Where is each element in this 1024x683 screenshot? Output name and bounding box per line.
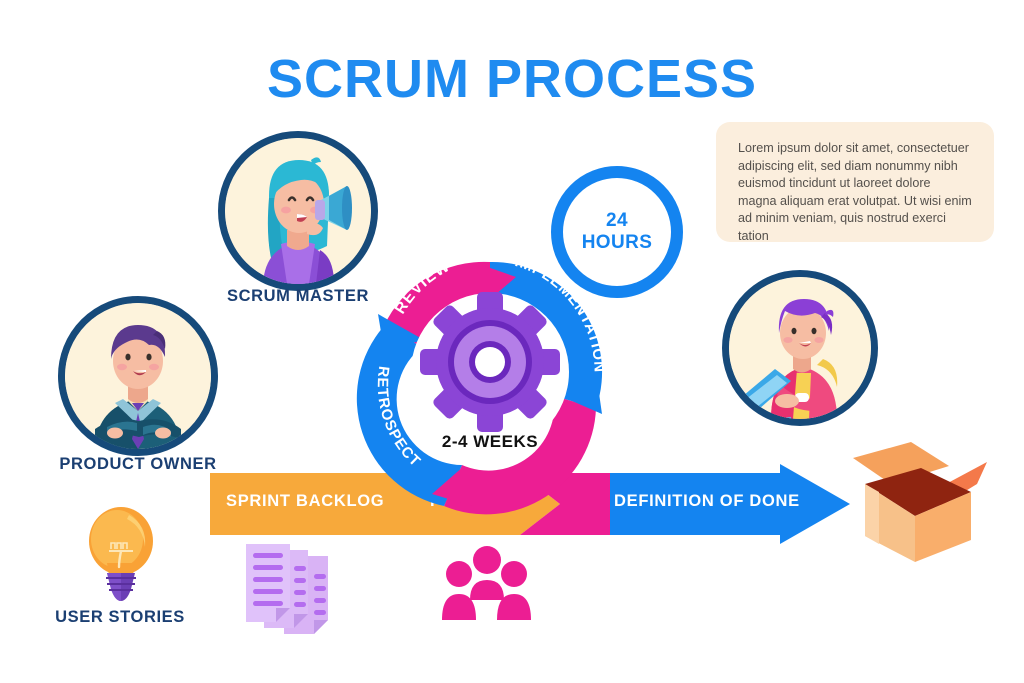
open-box-icon: [845, 436, 997, 562]
page-title: SCRUM PROCESS: [0, 48, 1024, 110]
note-text: Lorem ipsum dolor sit amet, consectetuer…: [738, 140, 972, 245]
team-people-icon: [442, 546, 532, 620]
flow-label-definition-of-done: DEFINITION OF DONE: [614, 492, 800, 511]
stacked-documents-icon: [244, 544, 348, 640]
daily-badge-line2: HOURS: [582, 232, 653, 254]
avatar-label-product-owner: PRODUCT OWNER: [10, 455, 266, 474]
infographic-canvas: SCRUM PROCESS Lorem ipsum dolor sit amet…: [0, 0, 1024, 683]
avatar-product-owner[interactable]: [58, 296, 218, 456]
note-box: Lorem ipsum dolor sit amet, consectetuer…: [716, 122, 994, 242]
avatar-scrum-master[interactable]: [218, 131, 378, 291]
artifact-label-user-stories: USER STORIES: [0, 608, 240, 627]
cycle-center-label: 2-4 WEEKS: [340, 432, 640, 452]
avatar-label-scrum-master: SCRUM MASTER: [170, 287, 426, 306]
avatar-team-member[interactable]: [722, 270, 878, 426]
lightbulb-icon: [85, 505, 157, 603]
gear-icon: [420, 292, 560, 432]
daily-badge-line1: 24: [606, 210, 628, 232]
daily-scrum-badge[interactable]: 24 HOURS: [551, 166, 683, 298]
